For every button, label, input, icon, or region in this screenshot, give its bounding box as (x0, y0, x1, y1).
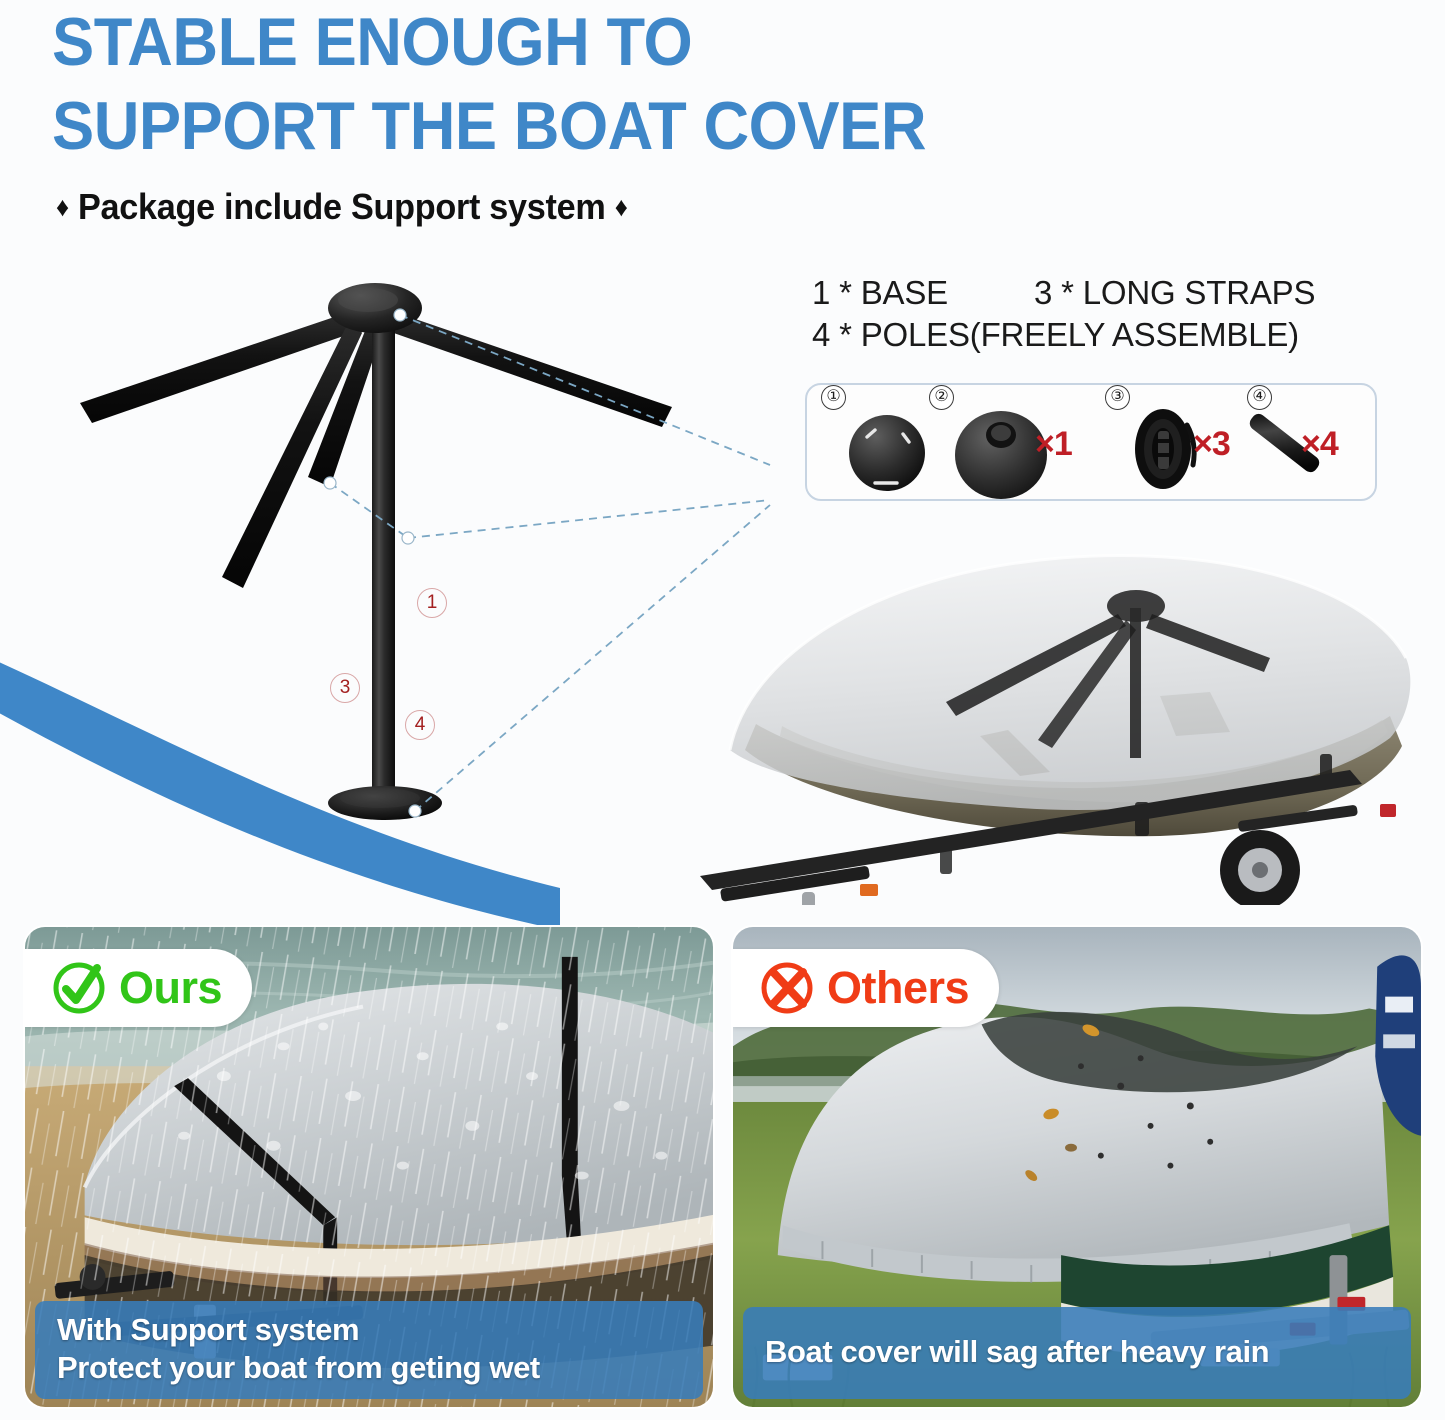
part-item-ball-cap: ① (821, 385, 931, 503)
others-badge-label: Others (827, 962, 969, 1014)
callout-marker-3: 3 (330, 673, 360, 703)
diamond-bullet-right-icon: ♦ (615, 192, 628, 222)
page-subtitle: ♦ Package include Support system ♦ (56, 186, 627, 228)
ours-caption: With Support system Protect your boat fr… (35, 1301, 703, 1399)
part-badge-1: ① (821, 385, 846, 410)
green-check-icon (51, 960, 107, 1016)
spec-strap-count: 3 * LONG STRAPS (1034, 274, 1315, 311)
part-qty-strap: ×3 (1193, 425, 1230, 464)
ball-cap-icon (841, 403, 935, 499)
spec-row-1: 1 * BASE3 * LONG STRAPS (812, 272, 1412, 314)
ours-caption-line-1: With Support system (57, 1311, 681, 1349)
diamond-bullet-left-icon: ♦ (56, 192, 69, 222)
support-pole-diagram: 1 3 4 2 (0, 255, 790, 855)
center-pole (372, 310, 395, 805)
part-qty-base: ×1 (1035, 425, 1072, 464)
callout-marker-1: 1 (417, 588, 447, 618)
trailer-jack (802, 892, 815, 905)
parts-legend-box: ① ② (805, 383, 1377, 501)
comparison-panel-others: Others Boat cover will sag after heavy r… (731, 925, 1423, 1409)
ours-badge: Ours (25, 949, 252, 1027)
part-item-strap: ③ (1105, 385, 1205, 503)
part-badge-4: ④ (1247, 385, 1272, 410)
part-qty-pole: ×4 (1301, 425, 1338, 464)
others-caption: Boat cover will sag after heavy rain (743, 1307, 1411, 1399)
page-title-line-2: SUPPORT THE BOAT COVER (52, 88, 926, 164)
ours-caption-line-2: Protect your boat from geting wet (57, 1349, 681, 1387)
covered-boat-on-trailer-illustration (690, 540, 1442, 905)
comparison-panel-ours: Ours With Support system Protect your bo… (23, 925, 715, 1409)
others-badge: Others (733, 949, 999, 1027)
subtitle-text: Package include Support system (78, 186, 605, 227)
page-title-line-1: STABLE ENOUGH TO (52, 4, 692, 80)
callout-marker-4: 4 (405, 710, 435, 740)
red-x-icon (759, 960, 815, 1016)
part-badge-3: ③ (1105, 385, 1130, 410)
package-contents-list: 1 * BASE3 * LONG STRAPS 4 * POLES(FREELY… (812, 272, 1412, 356)
part-badge-2: ② (929, 385, 954, 410)
ours-badge-label: Ours (119, 962, 222, 1014)
spec-base-count: 1 * BASE (812, 272, 1034, 314)
boat-cover (730, 555, 1410, 810)
header: STABLE ENOUGH TO SUPPORT THE BOAT COVER … (0, 0, 1445, 250)
spec-row-2: 4 * POLES(FREELY ASSEMBLE) (812, 314, 1412, 356)
others-caption-line-1: Boat cover will sag after heavy rain (765, 1333, 1389, 1371)
support-pole-illustration (0, 255, 790, 855)
part-item-base-disc: ② (929, 385, 1049, 503)
